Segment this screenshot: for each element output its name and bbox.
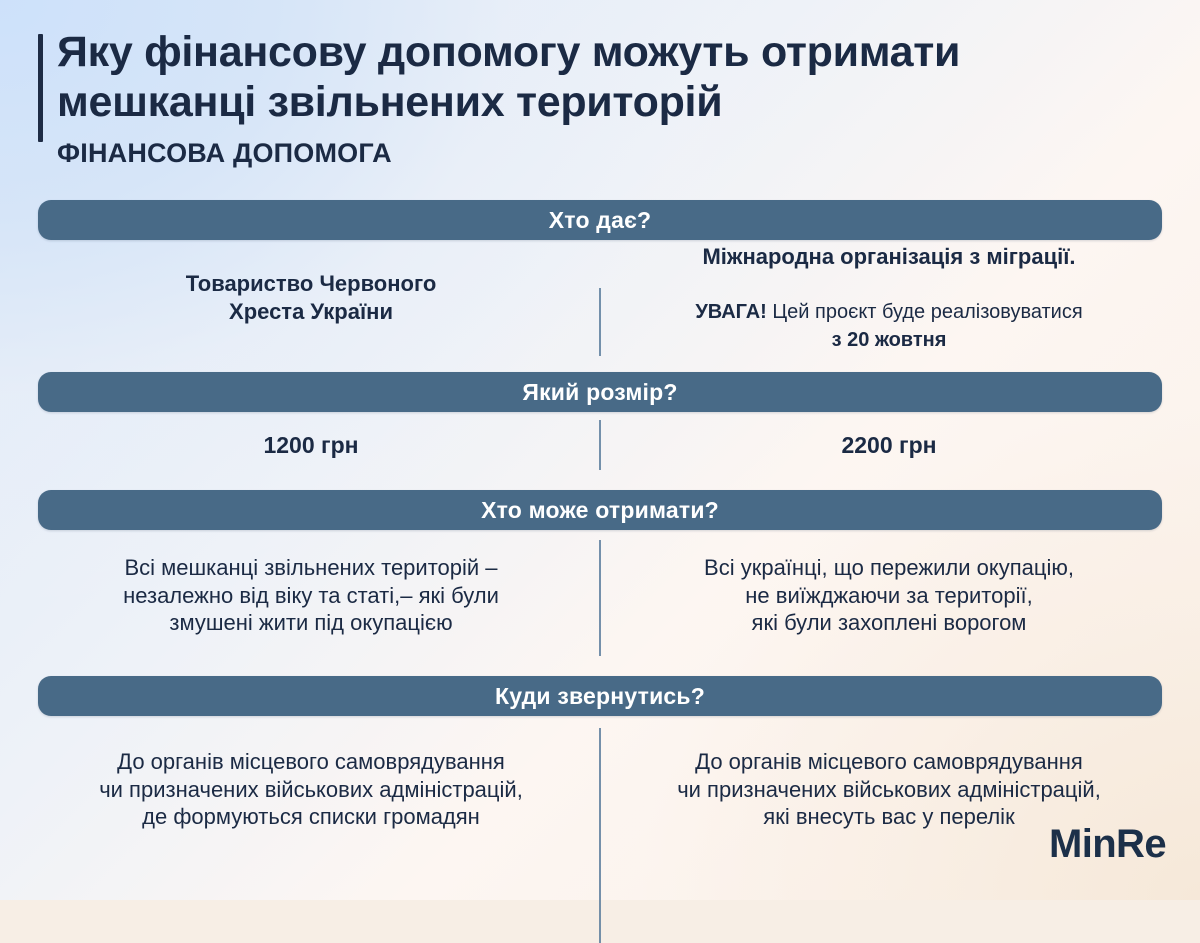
section-header-where-to-apply: Куди звернутись? [38, 676, 1162, 716]
cell-who-gives-left: Товариство Червоного Хреста України [38, 240, 600, 356]
cell-who-gives-right: Міжнародна організація з міграції. УВАГА… [600, 240, 1162, 356]
column-divider [599, 728, 601, 943]
section-where-to-apply: Куди звернутись? До органів місцевого са… [38, 676, 1162, 863]
column-divider [599, 540, 601, 656]
cell-amount-right: 2200 грн [600, 412, 1162, 478]
infographic-canvas: Яку фінансову допомогу можуть отримати м… [0, 0, 1200, 900]
comparison-table: Хто дає? Товариство Червоного Хреста Укр… [38, 200, 1162, 863]
attention-body: Цей проєкт буде реалізовуватися [767, 301, 1083, 323]
cell-text: 1200 грн [263, 432, 358, 459]
section-body-eligibility: Всі мешканці звільнених територій – неза… [38, 530, 1162, 661]
cell-text: 2200 грн [841, 432, 936, 459]
section-body-who-gives: Товариство Червоного Хреста України Міжн… [38, 240, 1162, 356]
attention-keyword: УВАГА! [695, 301, 767, 323]
page-title: Яку фінансову допомогу можуть отримати м… [38, 28, 1158, 128]
section-header-label: Куди звернутись? [495, 685, 705, 708]
section-header-amount: Який розмір? [38, 372, 1162, 412]
cell-text: Всі українці, що пережили окупацію, не в… [704, 554, 1074, 637]
cell-note: УВАГА! Цей проєкт буде реалізовуватися [695, 273, 1082, 325]
cell-text: Всі мешканці звільнених територій – неза… [123, 554, 499, 637]
cell-note-tail: з 20 жовтня [832, 327, 947, 353]
section-header-label: Хто може отримати? [481, 499, 719, 522]
section-who-gives: Хто дає? Товариство Червоного Хреста Укр… [38, 200, 1162, 356]
cell-amount-left: 1200 грн [38, 412, 600, 478]
section-body-amount: 1200 грн 2200 грн [38, 412, 1162, 478]
title-block: Яку фінансову допомогу можуть отримати м… [38, 28, 1158, 169]
section-header-label: Хто дає? [549, 209, 651, 232]
column-divider [599, 420, 601, 470]
section-header-label: Який розмір? [522, 381, 677, 404]
section-header-who-gives: Хто дає? [38, 200, 1162, 240]
minre-logo: MinRe [1049, 824, 1166, 864]
cell-text: Міжнародна організація з міграції. [702, 243, 1075, 271]
cell-eligibility-right: Всі українці, що пережили окупацію, не в… [600, 530, 1162, 661]
cell-text: До органів місцевого самоврядування чи п… [99, 748, 523, 831]
title-accent-bar [38, 34, 43, 142]
cell-text: Товариство Червоного Хреста України [186, 270, 437, 325]
section-eligibility: Хто може отримати? Всі мешканці звільнен… [38, 490, 1162, 661]
cell-where-left: До органів місцевого самоврядування чи п… [38, 716, 600, 863]
cell-text: До органів місцевого самоврядування чи п… [677, 748, 1101, 831]
cell-eligibility-left: Всі мешканці звільнених територій – неза… [38, 530, 600, 661]
page-subtitle: ФІНАНСОВА ДОПОМОГА [38, 138, 1158, 169]
section-body-where-to-apply: До органів місцевого самоврядування чи п… [38, 716, 1162, 863]
section-amount: Який розмір? 1200 грн 2200 грн [38, 372, 1162, 478]
section-header-eligibility: Хто може отримати? [38, 490, 1162, 530]
column-divider [599, 288, 601, 356]
